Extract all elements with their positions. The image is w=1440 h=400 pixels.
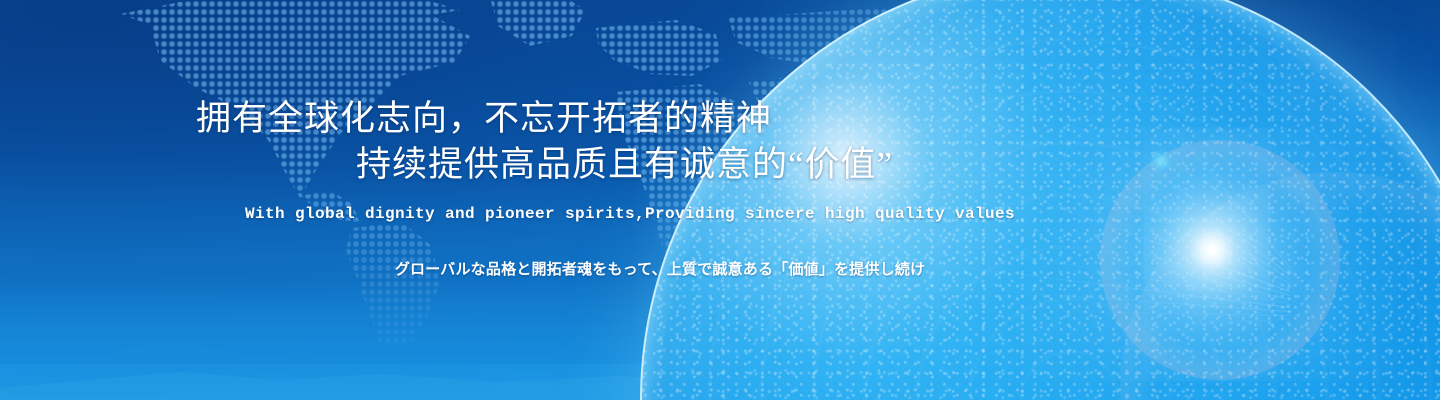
subheadline-japanese: グローバルな品格と開拓者魂をもって、上質で誠意ある「価値」を提供し続け [0, 258, 1320, 279]
subheadline-english: With global dignity and pioneer spirits,… [0, 205, 1260, 223]
headline-line-1: 拥有全球化志向，不忘开拓者的精神 [0, 90, 1296, 141]
banner-copy: 拥有全球化志向，不忘开拓者的精神 持续提供高品质且有诚意的“价值” With g… [0, 0, 1440, 400]
headline-line-2: 持续提供高品质且有诚意的“价值” [0, 136, 1440, 187]
hero-banner: 拥有全球化志向，不忘开拓者的精神 持续提供高品质且有诚意的“价值” With g… [0, 0, 1440, 400]
